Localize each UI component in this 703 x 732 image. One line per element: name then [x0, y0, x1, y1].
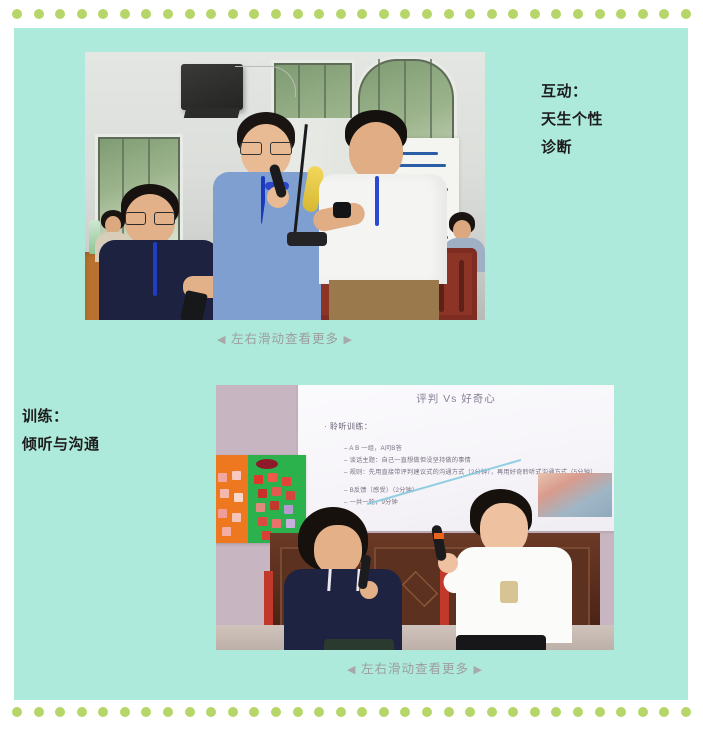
border-dot: [34, 9, 44, 19]
bottom-dot-border: [0, 703, 703, 721]
border-dot: [120, 9, 130, 19]
person-woman-speaking: [284, 507, 402, 650]
swipe-right-arrow-icon: ▶: [343, 334, 352, 346]
border-dot: [271, 707, 281, 717]
border-dot: [314, 707, 324, 717]
border-dot: [508, 707, 518, 717]
border-dot: [12, 707, 22, 717]
label-interaction: 互动： 天生个性 诊断: [541, 78, 681, 162]
border-dot: [314, 9, 324, 19]
border-dot: [422, 9, 432, 19]
border-dot: [228, 707, 238, 717]
border-dot: [336, 707, 346, 717]
border-dot: [77, 9, 87, 19]
border-dot: [530, 707, 540, 717]
label-training: 训练： 倾听与沟通: [22, 403, 202, 459]
border-dot: [465, 707, 475, 717]
border-dot: [508, 9, 518, 19]
label-training-line-1: 训练：: [22, 403, 202, 431]
swipe-left-arrow-icon: ◀: [347, 664, 356, 676]
border-dot: [206, 707, 216, 717]
swipe-right-arrow-icon: ▶: [473, 664, 482, 676]
border-dot: [551, 707, 561, 717]
person-dark-polo: [99, 184, 219, 320]
photo-interaction[interactable]: [85, 52, 485, 320]
person-man-listening: [456, 489, 572, 649]
border-dot: [271, 9, 281, 19]
content-card: 互动： 天生个性 诊断 ◀ 左右滑动查看更多 ▶ 训练： 倾听与沟通 评判 Vs…: [14, 28, 688, 700]
border-dot: [595, 9, 605, 19]
border-dot: [659, 9, 669, 19]
border-dot: [357, 9, 367, 19]
border-dot: [487, 707, 497, 717]
border-dot: [185, 707, 195, 717]
wall-speaker: [181, 64, 243, 110]
border-dot: [444, 707, 454, 717]
border-dot: [616, 707, 626, 717]
border-dot: [400, 707, 410, 717]
border-dot: [249, 707, 259, 717]
border-dot: [444, 9, 454, 19]
border-dot: [34, 707, 44, 717]
border-dot: [465, 9, 475, 19]
border-dot: [77, 707, 87, 717]
label-interaction-line-2: 天生个性: [541, 106, 681, 134]
swipe-hint-text: 左右滑动查看更多: [361, 662, 469, 676]
swipe-hint-interaction: ◀ 左右滑动查看更多 ▶: [85, 328, 485, 347]
swipe-left-arrow-icon: ◀: [217, 334, 226, 346]
border-dot: [293, 9, 303, 19]
border-dot: [379, 9, 389, 19]
photo-training[interactable]: 评判 Vs 好奇心 · 聆听训练： – A B 一组，A问B答 – 谈话主题：自…: [216, 385, 614, 650]
section-interaction: 互动： 天生个性 诊断 ◀ 左右滑动查看更多 ▶: [14, 28, 688, 358]
border-dot: [98, 707, 108, 717]
slide-bullet: · 聆听训练：: [324, 421, 372, 432]
person-blue-shirt-speaking: [211, 112, 323, 320]
border-dot: [659, 707, 669, 717]
top-dot-border: [0, 5, 703, 23]
border-dot: [573, 9, 583, 19]
border-dot: [163, 707, 173, 717]
border-dot: [55, 707, 65, 717]
border-dot: [379, 707, 389, 717]
border-dot: [573, 707, 583, 717]
border-dot: [595, 707, 605, 717]
border-dot: [293, 707, 303, 717]
border-dot: [638, 707, 648, 717]
person-white-polo-trainer: [319, 110, 447, 320]
slide-sub-1: – A B 一组，A问B答: [344, 443, 402, 452]
border-dot: [228, 9, 238, 19]
swipe-hint-text: 左右滑动查看更多: [231, 332, 339, 346]
border-dot: [681, 707, 691, 717]
border-dot: [249, 9, 259, 19]
border-dot: [206, 9, 216, 19]
border-dot: [616, 9, 626, 19]
border-dot: [12, 9, 22, 19]
label-interaction-line-3: 诊断: [541, 134, 681, 162]
border-dot: [141, 9, 151, 19]
border-dot: [336, 9, 346, 19]
swipe-hint-training: ◀ 左右滑动查看更多 ▶: [216, 658, 614, 677]
border-dot: [55, 9, 65, 19]
border-dot: [400, 9, 410, 19]
border-dot: [185, 9, 195, 19]
border-dot: [681, 9, 691, 19]
border-dot: [422, 707, 432, 717]
label-training-line-2: 倾听与沟通: [22, 431, 202, 459]
border-dot: [530, 9, 540, 19]
slide-sub-2: – 谈话主题：自己一直想做但没坚持做的事情: [344, 455, 471, 464]
border-dot: [120, 707, 130, 717]
border-dot: [163, 9, 173, 19]
label-interaction-line-1: 互动：: [541, 78, 681, 106]
border-dot: [638, 9, 648, 19]
border-dot: [141, 707, 151, 717]
border-dot: [551, 9, 561, 19]
border-dot: [357, 707, 367, 717]
border-dot: [98, 9, 108, 19]
slide-title: 评判 Vs 好奇心: [298, 391, 614, 406]
border-dot: [487, 9, 497, 19]
